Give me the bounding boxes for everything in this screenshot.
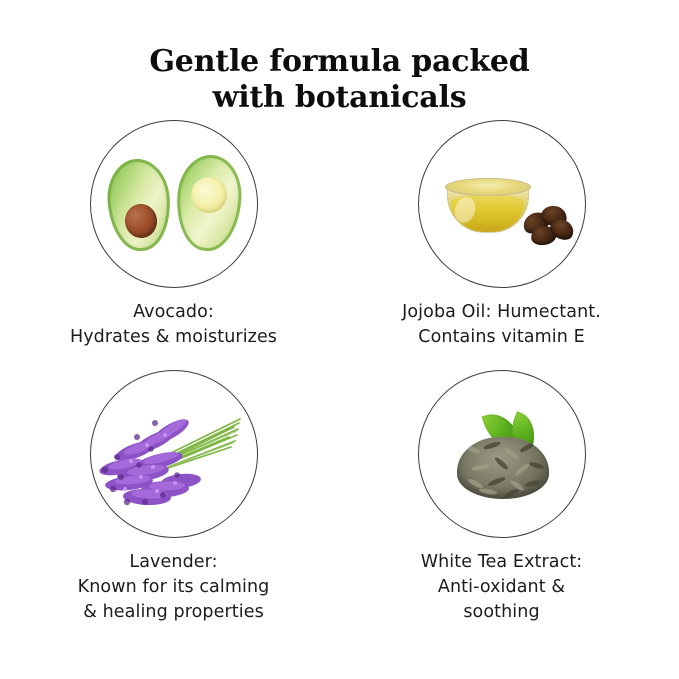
ingredient-caption-white-tea-extract: White Tea Extract: Anti-oxidant & soothi… [332,550,671,625]
ingredient-card-lavender: Lavender: Known for its calming & healin… [4,362,343,625]
ingredient-card-jojoba-oil: Jojoba Oil: Humectant. Contains vitamin … [332,112,671,350]
page-title-line-1: Gentle formula packed [149,44,529,79]
white-tea-leaves-icon [419,371,585,537]
dried-tea-leaf-pile [457,437,549,499]
avocado-seed-cavity [191,177,227,213]
white-tea-circle-wrap [418,370,586,538]
jojoba-oil-bowl-icon [419,121,585,287]
lavender-svg [91,371,258,538]
lavender-circle-frame [90,370,258,538]
tea-leaf-fleck [528,461,544,470]
ingredient-grid: Avocado: Hydrates & moisturizes [0,112,679,672]
page-title: Gentle formula packed with botanicals [0,44,679,116]
tea-leaf-fleck [513,462,530,477]
ingredient-card-white-tea-extract: White Tea Extract: Anti-oxidant & soothi… [332,362,671,625]
tea-leaf-fleck [470,463,490,472]
avocado-circle-frame [90,120,258,288]
tea-leaf-fleck [503,446,520,460]
jojoba-circle-wrap [418,120,586,288]
tea-leaf-fleck [486,476,505,488]
ingredient-caption-jojoba-oil: Jojoba Oil: Humectant. Contains vitamin … [332,300,671,350]
tea-leaf-fleck [524,479,541,488]
tea-leaf-fleck [502,488,519,499]
avocado-halves-icon [91,121,257,287]
jojoba-bowl-rim [445,178,531,196]
tea-leaf-fleck [464,444,481,455]
lavender-circle-wrap [90,370,258,538]
white-tea-circle-frame [418,370,586,538]
tea-leaf-fleck [482,440,501,450]
tea-leaf-fleck [493,456,509,471]
ingredient-card-avocado: Avocado: Hydrates & moisturizes [4,112,343,350]
tea-leaf-fleck [518,441,534,453]
ingredient-caption-avocado: Avocado: Hydrates & moisturizes [4,300,343,350]
lavender-bundle-icon [91,371,257,537]
jojoba-circle-frame [418,120,586,288]
avocado-circle-wrap [90,120,258,288]
page-title-line-2: with botanicals [0,80,679,116]
ingredient-benefits-infographic: Gentle formula packed with botanicals Av… [0,0,679,679]
tea-leaf-fleck [478,487,497,495]
ingredient-caption-lavender: Lavender: Known for its calming & healin… [4,550,343,625]
